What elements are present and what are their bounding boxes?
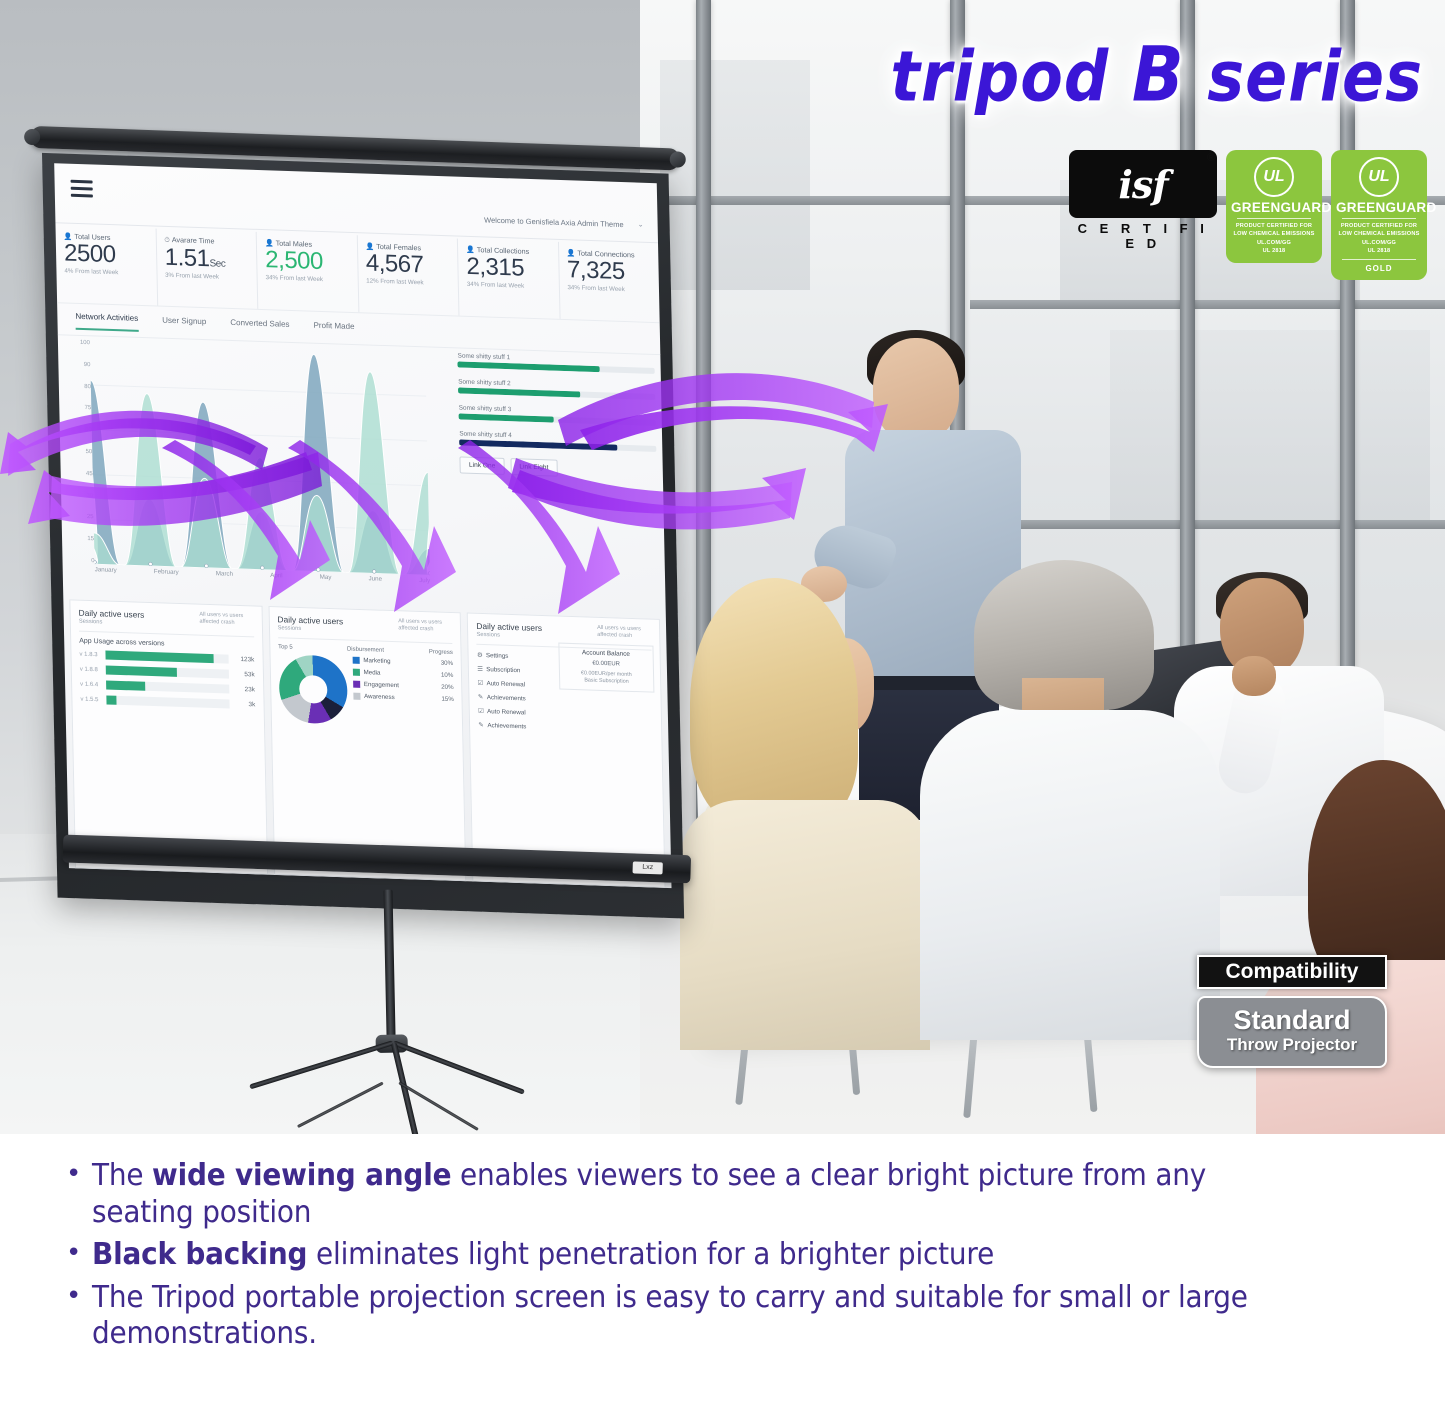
card-sessions: Sessions	[79, 619, 145, 627]
y-tick: 25	[68, 514, 94, 521]
settings-row-achievements-1[interactable]: ✎Achievements	[478, 693, 559, 704]
account-balance-title: Account Balance	[563, 649, 649, 659]
usage-fill	[106, 665, 177, 676]
stat-unit: Sec	[209, 258, 225, 270]
usage-version: v 1.5.5	[80, 696, 106, 703]
legend-pct: 20%	[441, 684, 454, 691]
y-tick: 50	[66, 448, 92, 455]
link-eight-button[interactable]: Link Eight	[510, 458, 557, 477]
tab-profit-made[interactable]: Profit Made	[313, 320, 354, 337]
check-icon: ☑	[478, 707, 487, 715]
y-tick: 90	[64, 361, 90, 368]
chart-plot-area	[90, 340, 430, 575]
isf-logo: isf	[1069, 150, 1217, 218]
greenguard-badge-1: UL GREENGUARD PRODUCT CERTIFIED FOR LOW …	[1226, 150, 1322, 263]
usage-value: 53k	[229, 671, 255, 679]
chart-point	[428, 571, 430, 575]
progress-item: Some shitty stuff 4	[459, 430, 656, 452]
presenter-head	[873, 338, 959, 442]
legend-label: Engagement	[364, 681, 399, 689]
hamburger-menu-icon[interactable]	[71, 180, 93, 202]
bullet-dot: •	[66, 1280, 92, 1314]
card-disbursement-donut: Daily active users Sessions All users vs…	[268, 606, 466, 881]
settings-label: Settings	[486, 652, 509, 660]
divider	[278, 637, 453, 644]
check-icon: ☑	[477, 679, 486, 687]
bullet-text-3: The Tripod portable projection screen is…	[92, 1280, 1308, 1353]
edit-icon: ✎	[478, 721, 487, 729]
legend-item: Engagement20%	[353, 681, 454, 691]
usage-version: v 1.8.8	[80, 666, 106, 673]
list-icon: ☰	[477, 665, 486, 673]
account-balance-value: €0.00EUR	[563, 660, 649, 669]
y-tick: 15	[68, 536, 94, 543]
bullet-item-2: • Black backing eliminates light penetra…	[66, 1237, 1399, 1274]
progress-fill	[458, 387, 580, 397]
stat-card-total-males: 👤Total Males 2,500 34% From last Week	[256, 232, 358, 312]
usage-value: 123k	[228, 656, 254, 664]
settings-label: Auto Renewal	[486, 680, 525, 688]
greenguard-line4: UL 2818	[1336, 247, 1422, 255]
tripod-projection-screen: Welcome to Genisfiela Axia Admin Theme ⌄…	[42, 138, 698, 926]
stat-subtext: 34% From last Week	[567, 284, 655, 294]
greenguard-line2: LOW CHEMICAL EMISSIONS	[1231, 230, 1317, 238]
link-button-group: Link One Link Eight	[460, 456, 657, 480]
chart-point	[149, 562, 153, 566]
x-tick: April	[270, 572, 283, 588]
grey-man-torso	[920, 710, 1220, 1040]
ul-text: UL	[1368, 168, 1389, 185]
stat-value: 2500	[64, 240, 152, 269]
usage-track	[106, 680, 229, 693]
tab-converted-sales[interactable]: Converted Sales	[230, 317, 290, 335]
usage-row: v 1.8.8 53k	[80, 665, 255, 680]
legend-swatch	[353, 669, 360, 676]
compatibility-line1: Standard	[1205, 1007, 1379, 1035]
link-one-button[interactable]: Link One	[460, 456, 505, 474]
gear-icon: ⚙	[477, 651, 486, 659]
brand-tag: Lxz	[632, 861, 662, 874]
compatibility-callout: Compatibility Standard Throw Projector	[1197, 955, 1387, 1068]
compatibility-line2: Throw Projector	[1205, 1035, 1379, 1055]
stat-value: 7,325	[567, 257, 655, 286]
usage-row: v 1.5.5 3k	[80, 695, 255, 710]
legend-pct: 30%	[441, 660, 454, 667]
card-subtitle: All users vs users affected crash	[199, 612, 253, 628]
divider	[1342, 218, 1416, 219]
stat-card-avarare-time: ⏱Avarare Time 1.51Sec 3% From last Week	[155, 229, 257, 309]
greenguard-gold-text: GOLD	[1336, 264, 1422, 273]
settings-row-auto-renewal-2[interactable]: ☑Auto Renewal	[478, 707, 559, 718]
legend-label: Marketing	[363, 657, 390, 665]
chevron-down-icon[interactable]: ⌄	[638, 221, 644, 229]
account-balance-box: Account Balance €0.00EUR €0.00EUR/per mo…	[558, 643, 654, 693]
progress-item: Some shitty stuff 1	[458, 352, 655, 374]
feature-bullets: • The wide viewing angle enables viewers…	[0, 1134, 1445, 1424]
stat-value: 2,315	[466, 254, 554, 283]
col-progress: Progress	[413, 649, 453, 656]
stat-subtext: 34% From last Week	[266, 274, 354, 284]
title-b: B	[1132, 31, 1185, 119]
card-sessions: Sessions	[278, 625, 344, 633]
legend-pct: 15%	[441, 696, 454, 703]
usage-track	[105, 650, 228, 663]
bullet-dot: •	[66, 1158, 92, 1192]
usage-value: 23k	[229, 686, 255, 694]
screen-endcap-left	[24, 129, 41, 146]
screen-border: Welcome to Genisfiela Axia Admin Theme ⌄…	[42, 153, 684, 919]
settings-label: Achievements	[487, 722, 526, 730]
legend-swatch	[352, 657, 359, 664]
person-far-right-woman	[1290, 760, 1445, 1134]
screen-projection-surface: Welcome to Genisfiela Axia Admin Theme ⌄…	[54, 163, 671, 888]
window-transom-3	[970, 520, 1445, 529]
progress-fill	[459, 413, 554, 422]
greenguard-name: GREENGUARD	[1336, 200, 1422, 215]
legend-item: Media10%	[353, 669, 454, 679]
card-settings: Daily active users Sessions All users vs…	[467, 613, 665, 888]
bullet-dot: •	[66, 1237, 92, 1271]
greenguard-line1: PRODUCT CERTIFIED FOR	[1336, 222, 1422, 230]
usage-track	[106, 665, 229, 678]
stat-card-total-collections: 👤Total Collections 2,315 34% From last W…	[457, 239, 559, 319]
card-app-usage: Daily active users Sessions All users vs…	[69, 599, 267, 874]
x-tick: March	[216, 570, 234, 587]
greenguard-line2: LOW CHEMICAL EMISSIONS	[1336, 230, 1422, 238]
greenguard-gold-badge: UL GREENGUARD PRODUCT CERTIFIED FOR LOW …	[1331, 150, 1427, 280]
usage-value: 3k	[229, 701, 255, 709]
conference-room-photo: Welcome to Genisfiela Axia Admin Theme ⌄…	[0, 0, 1445, 1134]
legend-swatch	[353, 681, 360, 688]
progress-item: Some shitty stuff 3	[459, 404, 656, 426]
chart-point	[316, 568, 320, 572]
legend-label: Media	[364, 669, 381, 677]
ul-leaf-icon: UL	[1359, 157, 1399, 197]
edit-icon: ✎	[478, 693, 487, 701]
greenguard-name: GREENGUARD	[1231, 200, 1317, 215]
window-transom-2	[970, 300, 1445, 309]
card-header: Daily active users Sessions All users vs…	[277, 614, 452, 637]
y-tick: 45	[67, 470, 93, 477]
title-tripod: tripod	[890, 36, 1109, 118]
settings-row-auto-renewal-1[interactable]: ☑Auto Renewal	[477, 679, 558, 690]
donut-legend: Marketing30% Media10% Engagement20% Awar…	[352, 657, 454, 708]
settings-row-achievements-2[interactable]: ✎Achievements	[478, 721, 559, 732]
stat-card-total-connections: 👤Total Connections 7,325 34% From last W…	[557, 242, 659, 322]
product-marketing-image: Welcome to Genisfiela Axia Admin Theme ⌄…	[0, 0, 1445, 1424]
y-tick: 30	[67, 492, 93, 499]
bullet-text-1: The wide viewing angle enables viewers t…	[92, 1158, 1308, 1231]
legend-label: Awareness	[364, 693, 395, 701]
bullet-text-2: Black backing eliminates light penetrati…	[92, 1237, 994, 1274]
stat-card-total-females: 👤Total Females 4,567 12% From last Week	[356, 235, 458, 315]
legend-swatch	[353, 693, 360, 700]
registered-icon: ®	[1207, 152, 1215, 164]
legend-item: Marketing30%	[352, 657, 453, 667]
area-chart-svg	[90, 340, 430, 575]
isf-certified-text: C E R T I F I E D	[1069, 221, 1217, 251]
bullet-item-3: • The Tripod portable projection screen …	[66, 1280, 1399, 1353]
card-header: Daily active users Sessions All users vs…	[79, 608, 254, 631]
person-blonde-woman	[690, 578, 940, 1058]
donut-chart	[278, 654, 347, 724]
progress-item: Some shitty stuff 2	[458, 378, 655, 400]
title-series: series	[1207, 36, 1423, 118]
y-tick: 75	[65, 405, 91, 412]
y-tick: 60	[66, 427, 92, 434]
settings-row-settings[interactable]: ⚙Settings	[477, 651, 558, 662]
usage-row: v 1.8.3 123k	[79, 650, 254, 665]
stat-value: 1.51Sec	[164, 245, 252, 274]
card-sessions: Sessions	[476, 632, 542, 640]
settings-list: ⚙Settings ☰Subscription ☑Auto Renewal ✎A…	[477, 651, 559, 732]
bullet-item-1: • The wide viewing angle enables viewers…	[66, 1158, 1399, 1231]
product-title: tripod B series	[890, 31, 1423, 119]
donut-and-legend: Marketing30% Media10% Engagement20% Awar…	[278, 654, 454, 728]
greenguard-line4: UL 2818	[1231, 247, 1317, 255]
col-top5: Top 5	[278, 644, 318, 651]
settings-label: Auto Renewal	[487, 708, 526, 716]
y-tick: 0	[68, 557, 94, 564]
ul-leaf-icon: UL	[1254, 157, 1294, 197]
chart-point	[205, 564, 209, 568]
x-tick: May	[320, 574, 332, 590]
stat-subtext: 12% From last Week	[366, 277, 454, 287]
usage-track	[106, 695, 229, 708]
isf-mark: isf	[1118, 162, 1167, 207]
card-subtitle: All users vs users affected crash	[597, 625, 651, 641]
ul-text: UL	[1263, 168, 1284, 185]
tab-user-signup[interactable]: User Signup	[162, 315, 206, 332]
chart-point	[261, 566, 265, 570]
chart-point	[372, 570, 376, 574]
usage-title: App Usage across versions	[79, 638, 254, 651]
divider	[1237, 218, 1311, 219]
x-tick: June	[369, 575, 383, 591]
col-disbursement: Disbursement	[318, 646, 413, 655]
legend-item: Awareness15%	[353, 693, 454, 703]
greenguard-line1: PRODUCT CERTIFIED FOR	[1231, 222, 1317, 230]
greenguard-line3: UL.COM/GG	[1231, 239, 1317, 247]
divider	[79, 631, 254, 638]
compatibility-heading: Compatibility	[1197, 955, 1387, 989]
certification-badges: isf ® C E R T I F I E D UL GREENGUARD PR…	[1069, 150, 1427, 280]
usage-fill	[105, 650, 213, 663]
x-tick: July	[419, 577, 430, 593]
isf-certified-badge: isf ® C E R T I F I E D	[1069, 150, 1217, 251]
stat-subtext: 34% From last Week	[467, 281, 555, 291]
usage-version: v 1.6.4	[80, 681, 106, 688]
x-tick: January	[95, 566, 117, 583]
settings-row-subscription[interactable]: ☰Subscription	[477, 665, 558, 676]
divider	[1342, 259, 1416, 260]
account-balance-sub2: Basic Subscription	[564, 677, 650, 687]
greenguard-line3: UL.COM/GG	[1336, 239, 1422, 247]
usage-version: v 1.8.3	[79, 651, 105, 658]
stat-value: 4,567	[366, 250, 454, 279]
compatibility-body: Standard Throw Projector	[1197, 996, 1387, 1068]
y-tick: 80	[65, 383, 91, 390]
settings-label: Achievements	[487, 694, 526, 702]
settings-label: Subscription	[486, 666, 520, 674]
legend-pct: 10%	[441, 672, 454, 679]
tab-network-activities[interactable]: Network Activities	[75, 311, 138, 331]
stat-value: 2,500	[265, 247, 353, 276]
welcome-message: Welcome to Genisfiela Axia Admin Theme	[484, 215, 624, 229]
usage-row: v 1.6.4 23k	[80, 680, 255, 695]
side-progress-list: Some shitty stuff 1 Some shitty stuff 2 …	[450, 352, 657, 480]
projected-dashboard: Welcome to Genisfiela Axia Admin Theme ⌄…	[54, 163, 671, 888]
x-tick: February	[154, 568, 179, 585]
card-subtitle: All users vs users affected crash	[398, 618, 452, 634]
card-header: Daily active users Sessions All users vs…	[476, 621, 651, 644]
stat-subtext: 4% From last Week	[64, 267, 152, 277]
usage-fill	[106, 695, 116, 704]
blonde-woman-torso	[680, 800, 930, 1050]
usage-fill	[106, 680, 145, 690]
stat-card-total-users: 👤Total Users 2500 4% From last Week	[55, 225, 156, 305]
network-activities-chart: 100 90 80 75 60 50 45 30 25 15 0	[58, 335, 437, 599]
blonde-woman-hair	[690, 578, 858, 828]
exterior-building-3	[1110, 330, 1430, 520]
y-tick: 100	[64, 339, 90, 346]
